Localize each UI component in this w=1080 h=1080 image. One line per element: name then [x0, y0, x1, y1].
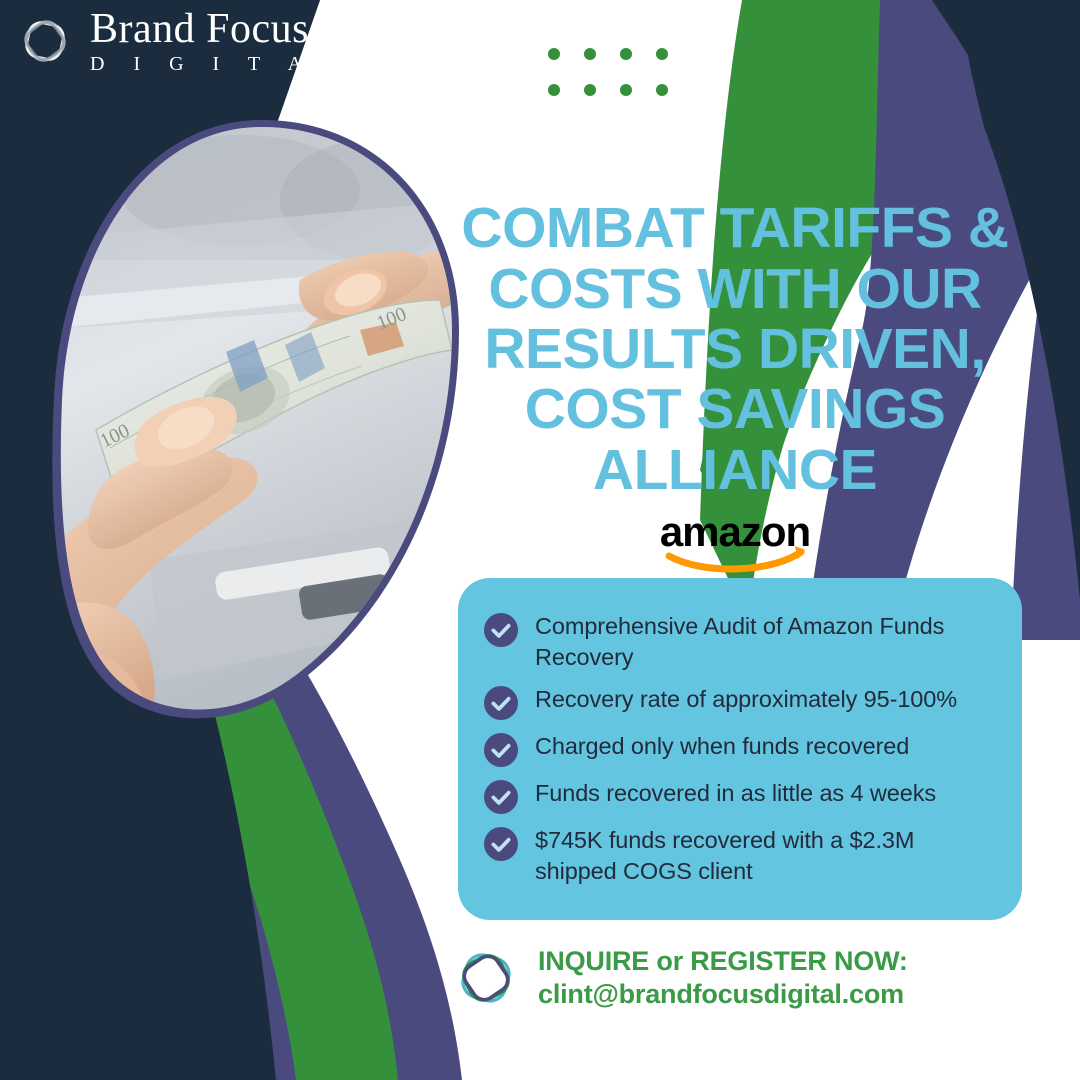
headline: COMBAT TARIFFS & COSTS WITH OUR RESULTS … [455, 198, 1015, 500]
cta-email-link[interactable]: clint@brandfocusdigital.com [538, 978, 908, 1011]
check-circle-icon [484, 686, 518, 720]
brand-header: Brand Focus D I G I T A L [14, 8, 354, 74]
benefit-item: Charged only when funds recovered [484, 731, 992, 767]
dot [620, 48, 632, 60]
brand-name: Brand Focus [90, 8, 354, 50]
benefit-item: Comprehensive Audit of Amazon Funds Reco… [484, 611, 992, 674]
benefits-panel: Comprehensive Audit of Amazon Funds Reco… [458, 578, 1022, 920]
amazon-logo-icon: amazon [635, 512, 835, 574]
benefit-item: Funds recovered in as little as 4 weeks [484, 778, 992, 814]
benefit-text: $745K funds recovered with a $2.3M shipp… [535, 825, 992, 888]
brand-subtitle: D I G I T A L [90, 54, 354, 74]
amazon-logo: amazon [455, 512, 1015, 579]
cta-headline: INQUIRE or REGISTER NOW: [538, 945, 908, 978]
benefit-text: Charged only when funds recovered [535, 731, 909, 762]
benefit-text: Comprehensive Audit of Amazon Funds Reco… [535, 611, 992, 674]
check-circle-icon [484, 827, 518, 861]
benefit-text: Funds recovered in as little as 4 weeks [535, 778, 936, 809]
interlocking-rings-logo [14, 10, 76, 72]
benefit-item: $745K funds recovered with a $2.3M shipp… [484, 825, 992, 888]
dot [584, 84, 596, 96]
dot [548, 84, 560, 96]
cta-text: INQUIRE or REGISTER NOW: clint@brandfocu… [538, 945, 908, 1011]
cta-block: INQUIRE or REGISTER NOW: clint@brandfocu… [450, 942, 908, 1014]
brand-wordmark: Brand Focus D I G I T A L [90, 8, 354, 74]
check-circle-icon [484, 780, 518, 814]
benefit-item: Recovery rate of approximately 95-100% [484, 684, 992, 720]
dot [656, 84, 668, 96]
dot [620, 84, 632, 96]
svg-text:amazon: amazon [660, 512, 810, 555]
benefit-text: Recovery rate of approximately 95-100% [535, 684, 957, 715]
dot [656, 48, 668, 60]
interlocking-rings-logo-color [450, 942, 522, 1014]
poster-canvas: 100 100 Brand Focus [0, 0, 1080, 1080]
check-circle-icon [484, 613, 518, 647]
check-circle-icon [484, 733, 518, 767]
dot [548, 48, 560, 60]
dot-grid-decoration [548, 48, 670, 98]
dot [584, 48, 596, 60]
